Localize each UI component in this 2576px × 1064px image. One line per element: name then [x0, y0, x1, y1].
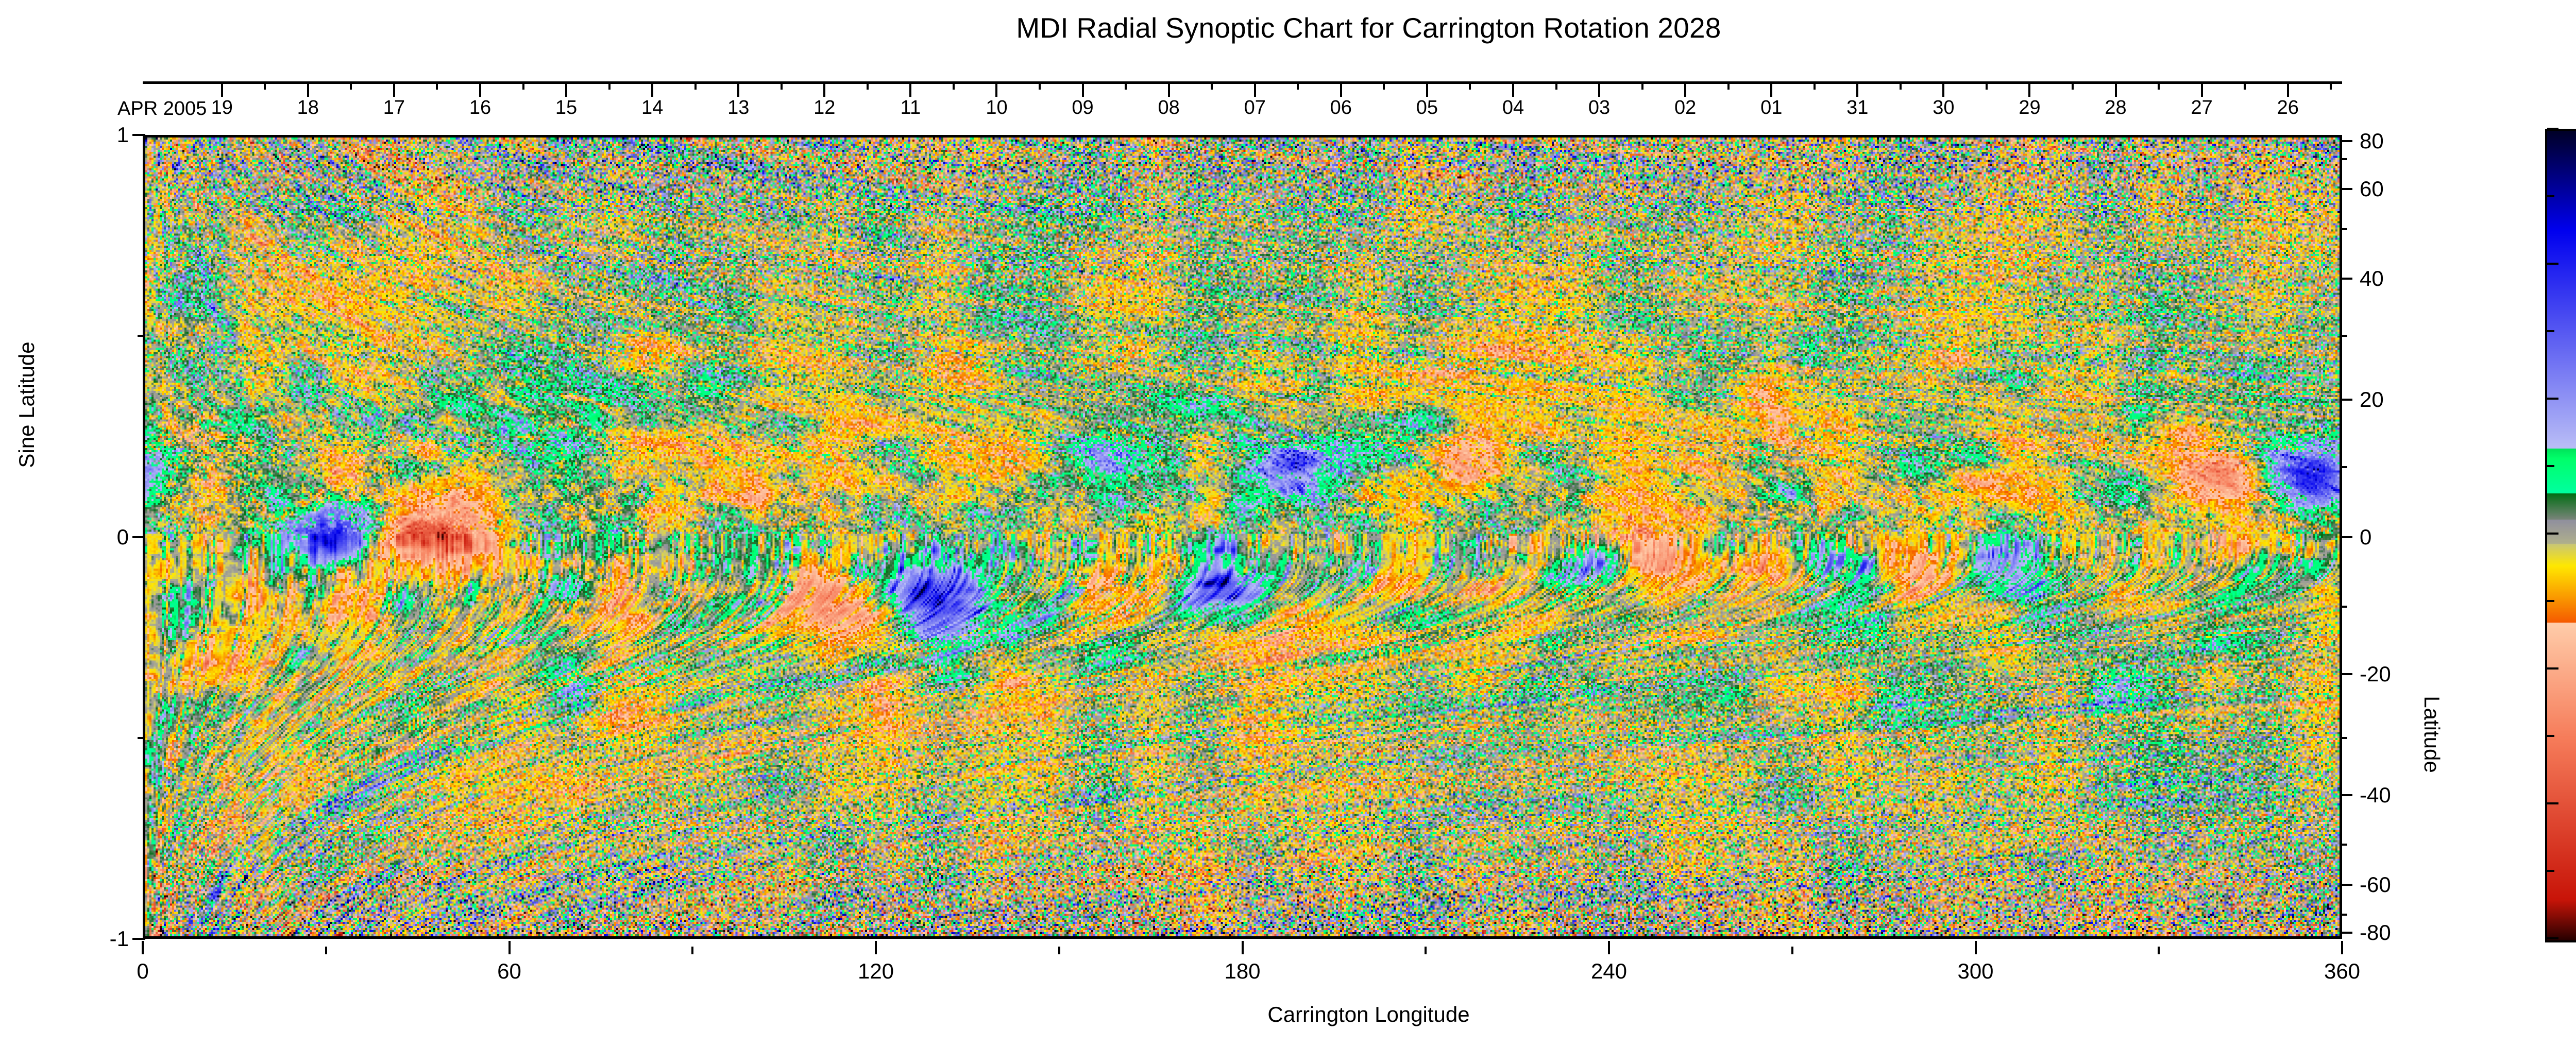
top-axis-minor-tick — [608, 81, 611, 90]
bottom-axis-ticks — [143, 939, 2342, 954]
colorbar-minor-tick-left — [2547, 330, 2554, 332]
right-axis-label: 20 — [2360, 387, 2384, 412]
left-axis-title: Sine Latitude — [14, 75, 39, 734]
right-axis-minor-tick — [2340, 914, 2347, 916]
right-axis-label: -60 — [2360, 872, 2391, 897]
bottom-axis-label: 60 — [497, 959, 521, 984]
right-axis-major-tick — [2340, 673, 2352, 675]
top-axis-major-tick — [2115, 81, 2117, 97]
right-axis-minor-tick — [2340, 335, 2347, 337]
right-axis-label: 60 — [2360, 177, 2384, 201]
right-axis-major-tick — [2340, 188, 2352, 190]
bottom-axis-minor-tick — [2158, 947, 2160, 954]
colorbar-canvas — [2547, 131, 2576, 940]
bottom-axis-title: Carrington Longitude — [0, 1002, 2576, 1027]
top-axis-minor-tick — [867, 81, 869, 90]
left-axis-label: 1 — [117, 123, 129, 147]
bottom-axis-label: 120 — [858, 959, 894, 984]
top-axis-label: 12 — [814, 97, 835, 119]
top-axis-label: 16 — [469, 97, 491, 119]
right-axis-minor-tick — [2340, 466, 2347, 468]
top-axis-minor-tick — [781, 81, 783, 90]
top-axis-label: 17 — [383, 97, 405, 119]
magnetogram-canvas — [145, 138, 2340, 936]
left-axis-minor-tick — [138, 737, 145, 739]
bottom-axis-major-tick — [875, 941, 877, 954]
top-axis-major-tick — [1254, 81, 1256, 97]
bottom-axis-major-tick — [2341, 941, 2343, 954]
top-axis-minor-tick — [953, 81, 955, 90]
page-title: MDI Radial Synoptic Chart for Carrington… — [0, 11, 2576, 44]
bottom-axis-label: 300 — [1957, 959, 1993, 984]
right-axis-label: 40 — [2360, 266, 2384, 291]
top-axis-label: 02 — [1674, 97, 1696, 119]
top-axis-minor-tick — [1211, 81, 1213, 90]
colorbar-minor-tick-left — [2547, 195, 2554, 197]
top-axis-label: 30 — [1933, 97, 1954, 119]
top-axis-major-tick — [1168, 81, 1170, 97]
top-axis-label: 07 — [1244, 97, 1266, 119]
top-axis-major-tick — [1340, 81, 1342, 97]
top-axis-minor-tick — [1814, 81, 1816, 90]
right-axis-minor-tick — [2340, 158, 2347, 160]
top-axis-minor-tick — [2072, 81, 2074, 90]
top-axis-major-tick — [2201, 81, 2203, 97]
right-axis-major-tick — [2340, 140, 2352, 142]
top-axis-minor-tick — [436, 81, 438, 90]
top-axis-minor-tick — [1900, 81, 1902, 90]
top-axis-label: 13 — [727, 97, 749, 119]
top-axis-label: 11 — [901, 97, 921, 119]
right-axis-major-tick — [2340, 794, 2352, 796]
bottom-axis-label: 240 — [1591, 959, 1627, 984]
colorbar-tick-left — [2547, 533, 2558, 535]
top-axis-minor-tick — [1641, 81, 1643, 90]
bottom-axis-major-tick — [142, 941, 144, 954]
top-axis-minor-tick — [2244, 81, 2246, 90]
top-axis-major-tick — [2287, 81, 2289, 97]
bottom-axis-label: 360 — [2324, 959, 2360, 984]
month-year-label: APR 2005 — [117, 98, 207, 120]
top-axis-ticks — [143, 81, 2342, 98]
top-axis-labels: 1918171615141312111009080706050403020131… — [0, 0, 2576, 1]
bottom-axis-minor-tick — [1058, 947, 1060, 954]
right-axis-title: Latitude — [2419, 405, 2444, 1064]
top-axis-major-tick — [1856, 81, 1858, 97]
right-axis-ticks — [2340, 135, 2352, 939]
top-axis-major-tick — [737, 81, 739, 97]
bottom-axis-minor-tick — [1425, 947, 1427, 954]
bottom-axis-minor-tick — [1791, 947, 1793, 954]
top-axis-major-tick — [479, 81, 481, 97]
right-axis-label: 80 — [2360, 129, 2384, 153]
top-axis-minor-tick — [1383, 81, 1385, 90]
colorbar-minor-tick-left — [2547, 735, 2554, 737]
bottom-axis-major-tick — [1975, 941, 1977, 954]
top-axis-label: 26 — [2277, 97, 2299, 119]
colorbar-minor-tick-left — [2547, 465, 2554, 467]
top-axis-major-tick — [307, 81, 309, 97]
top-axis-label: 18 — [297, 97, 319, 119]
right-axis-major-tick — [2340, 536, 2352, 538]
top-axis-minor-tick — [1039, 81, 1041, 90]
top-axis-major-tick — [2028, 81, 2030, 97]
top-axis-minor-tick — [2330, 81, 2332, 90]
top-axis-major-tick — [1426, 81, 1428, 97]
top-axis-major-tick — [995, 81, 997, 97]
top-axis-label: 04 — [1502, 97, 1524, 119]
top-axis-minor-tick — [1469, 81, 1471, 90]
top-axis-label: 01 — [1760, 97, 1782, 119]
top-axis-minor-tick — [1297, 81, 1299, 90]
top-axis-major-tick — [1684, 81, 1686, 97]
bottom-axis-major-tick — [1242, 941, 1244, 954]
top-axis-major-tick — [1942, 81, 1944, 97]
left-axis-minor-tick — [138, 335, 145, 337]
top-axis-minor-tick — [1986, 81, 1988, 90]
top-axis-minor-tick — [1125, 81, 1127, 90]
top-axis-minor-tick — [1555, 81, 1557, 90]
right-axis-label: 0 — [2360, 525, 2371, 550]
right-axis-label: -20 — [2360, 662, 2391, 687]
top-axis-label: 14 — [641, 97, 663, 119]
colorbar-legend: 150010005000-500-1000-1500 — [2545, 129, 2576, 942]
left-axis-label: 0 — [117, 525, 129, 550]
top-axis-major-tick — [909, 81, 911, 97]
top-axis-label: 06 — [1330, 97, 1352, 119]
bottom-axis-minor-tick — [325, 947, 327, 954]
top-axis-major-tick — [1770, 81, 1772, 97]
bottom-axis-major-tick — [509, 941, 511, 954]
right-axis-label: -40 — [2360, 783, 2391, 808]
right-axis-label: -80 — [2360, 920, 2391, 945]
top-axis-major-tick — [823, 81, 825, 97]
magnetogram-image — [145, 138, 2340, 936]
bottom-axis-label: 0 — [137, 959, 148, 984]
right-axis-major-tick — [2340, 399, 2352, 401]
right-axis-major-tick — [2340, 932, 2352, 934]
top-axis-label: 03 — [1588, 97, 1610, 119]
top-axis-label: 08 — [1158, 97, 1180, 119]
right-axis-major-tick — [2340, 884, 2352, 886]
colorbar-tick-left — [2547, 128, 2558, 130]
top-axis-label: 29 — [2019, 97, 2040, 119]
colorbar-tick-left — [2547, 263, 2558, 265]
top-axis-major-tick — [1598, 81, 1600, 97]
top-axis-major-tick — [393, 81, 395, 97]
top-axis-label: 31 — [1846, 97, 1868, 119]
colorbar-minor-tick-left — [2547, 870, 2554, 872]
colorbar-tick-left — [2547, 398, 2558, 400]
bottom-axis-label: 180 — [1224, 959, 1260, 984]
colorbar-tick-left — [2547, 802, 2558, 804]
left-axis-ticks — [132, 135, 145, 939]
right-axis-major-tick — [2340, 278, 2352, 280]
top-axis-label: 19 — [211, 97, 233, 119]
top-axis-major-tick — [221, 81, 223, 97]
colorbar-tick-left — [2547, 937, 2558, 939]
left-axis-labels: 10-1 — [72, 135, 129, 939]
right-axis-minor-tick — [2340, 737, 2347, 739]
top-axis-minor-tick — [1727, 81, 1730, 90]
top-axis-label: 10 — [986, 97, 1007, 119]
right-axis-minor-tick — [2340, 228, 2347, 230]
right-axis-minor-tick — [2340, 844, 2347, 846]
top-axis-label: 05 — [1416, 97, 1438, 119]
colorbar-minor-tick-left — [2547, 600, 2554, 602]
left-axis-major-tick — [132, 134, 145, 136]
synoptic-map-plot — [143, 135, 2342, 939]
top-axis-minor-tick — [694, 81, 697, 90]
colorbar-tick-left — [2547, 667, 2558, 670]
top-axis-minor-tick — [350, 81, 352, 90]
top-axis-minor-tick — [522, 81, 524, 90]
top-axis-major-tick — [651, 81, 653, 97]
top-axis-major-tick — [1082, 81, 1084, 97]
colorbar-gradient — [2545, 129, 2576, 942]
right-axis-minor-tick — [2340, 606, 2347, 608]
top-axis-label: 15 — [555, 97, 577, 119]
top-axis-label: 09 — [1072, 97, 1093, 119]
right-axis-title-text: Latitude — [2419, 405, 2444, 1064]
left-axis-label: -1 — [110, 926, 129, 951]
left-axis-major-tick — [132, 536, 145, 538]
top-axis-major-tick — [1512, 81, 1514, 97]
top-axis-minor-tick — [264, 81, 266, 90]
top-axis-major-tick — [565, 81, 567, 97]
bottom-axis-minor-tick — [691, 947, 693, 954]
top-axis-minor-tick — [2158, 81, 2160, 90]
top-axis-label: 28 — [2105, 97, 2126, 119]
top-axis-label: 27 — [2191, 97, 2213, 119]
bottom-axis-major-tick — [1608, 941, 1610, 954]
